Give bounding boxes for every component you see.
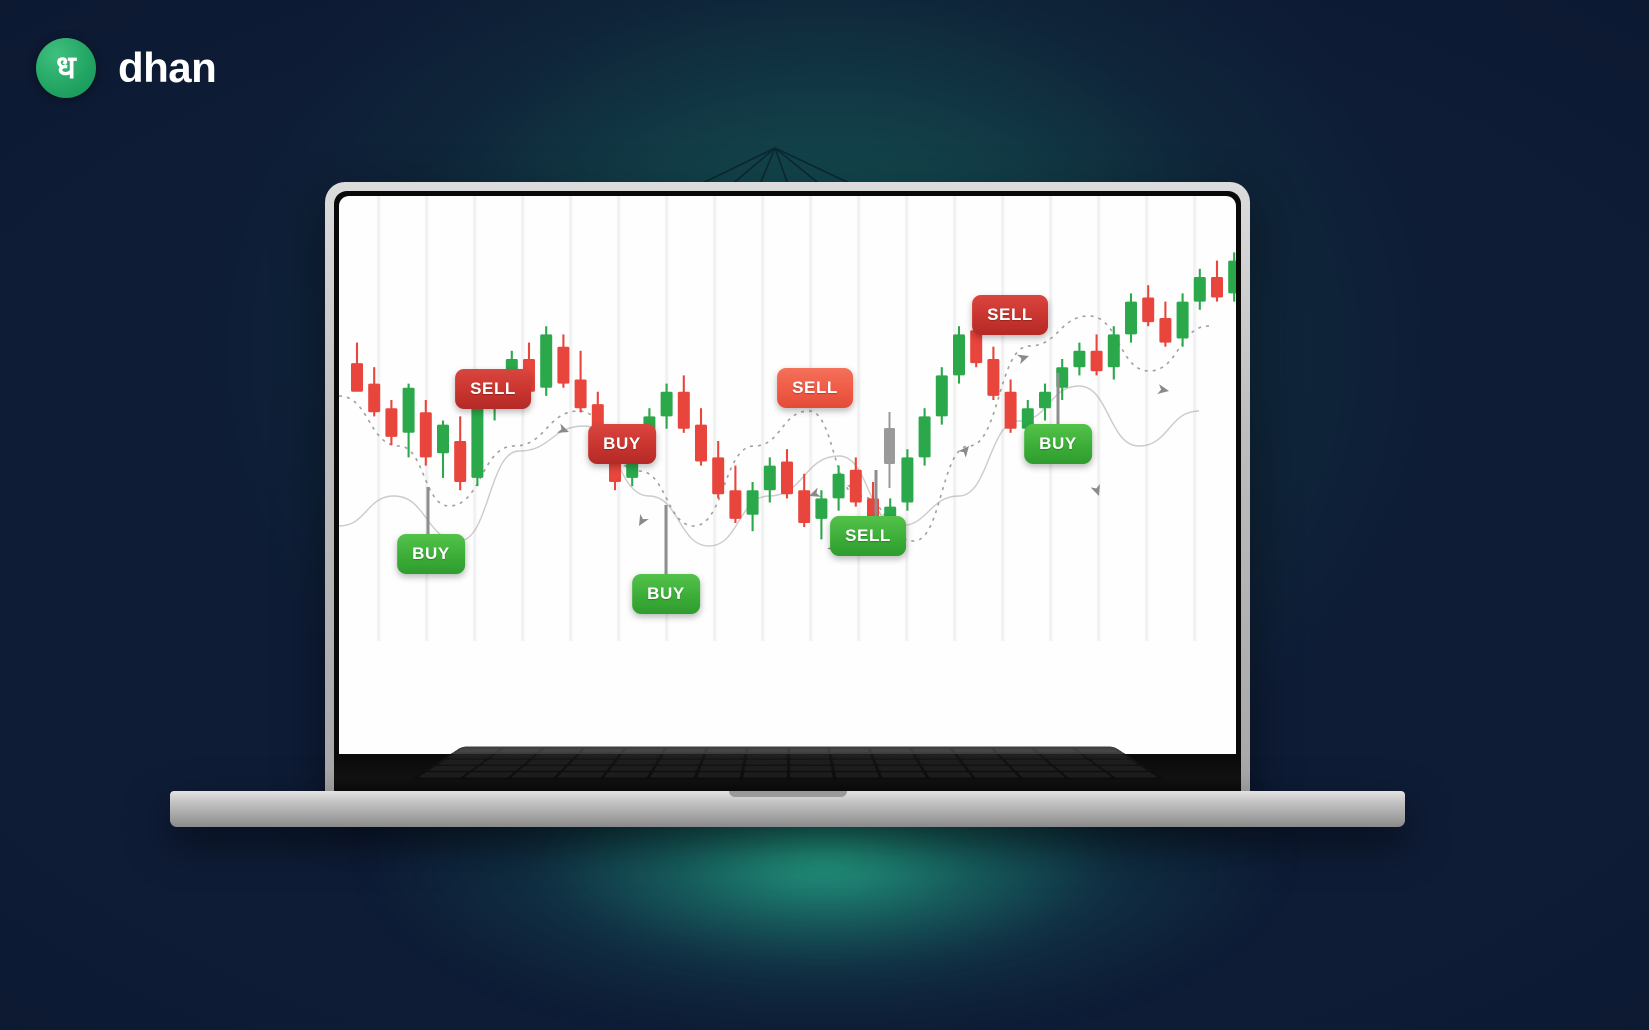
candle-body	[420, 412, 432, 457]
candle-body	[747, 490, 759, 515]
chart-gridline	[617, 196, 620, 641]
laptop-base	[170, 791, 1405, 827]
chart-gridline	[1097, 196, 1100, 641]
candle-body	[1142, 298, 1154, 323]
chart-gridline	[1193, 196, 1196, 641]
laptop-keyboard	[410, 747, 1166, 780]
keyboard-key	[706, 748, 746, 752]
candle-body	[781, 462, 793, 495]
candle-body	[1091, 351, 1103, 372]
chart-canvas	[339, 196, 1236, 756]
keyboard-key	[498, 748, 542, 752]
brand-logo: ध dhan	[36, 38, 216, 98]
keyboard-key	[623, 748, 664, 752]
keyboard-key	[875, 760, 918, 765]
signal-connector-stem	[665, 505, 668, 574]
chart-gridline	[377, 196, 380, 641]
dhan-logo-icon: ध	[36, 38, 96, 98]
trend-arrow-icon	[1157, 384, 1170, 396]
candle-body	[970, 330, 982, 363]
candle-body	[540, 334, 552, 387]
keyboard-key	[789, 760, 830, 765]
chart-gridline	[953, 196, 956, 641]
keyboard-key	[1034, 748, 1078, 752]
keyboard-key	[557, 772, 604, 777]
candle-body	[901, 457, 913, 502]
keyboard-key	[650, 772, 695, 777]
candle-body	[368, 384, 380, 413]
chart-gridline	[809, 196, 812, 641]
chart-gridline	[569, 196, 572, 641]
candle-body	[1108, 334, 1120, 367]
keyboard-key	[1040, 754, 1085, 758]
keyboard-key	[618, 754, 660, 758]
keyboard-key	[699, 766, 742, 771]
signal-badge-buy[interactable]: BUY	[397, 534, 465, 574]
candle-body	[833, 474, 845, 499]
keyboard-key	[789, 772, 832, 777]
keyboard-key	[482, 760, 528, 765]
candle-body	[953, 334, 965, 375]
candle-body	[471, 408, 483, 478]
candlestick-chart: BUYSELLBUYBUYSELLSELLSELLBUY	[339, 196, 1236, 756]
logo-glyph: ध	[56, 51, 76, 83]
trend-arrow-icon	[1017, 351, 1031, 364]
chart-gridline	[761, 196, 764, 641]
candle-body	[1005, 392, 1017, 429]
laptop-bezel: BUYSELLBUYBUYSELLSELLSELLBUY	[334, 191, 1241, 799]
keyboard-row	[438, 760, 1137, 765]
screenshot-stage: ध dhan BUYSELLBUYBUYSELLSELLSELLBUY	[0, 0, 1649, 1030]
candle-body	[1125, 302, 1137, 335]
keyboard-key	[563, 766, 609, 771]
keyboard-key	[993, 748, 1036, 752]
candle-body	[919, 416, 931, 457]
keyboard-key	[1107, 772, 1157, 777]
keyboard-key	[654, 766, 698, 771]
keyboard-row	[428, 766, 1147, 771]
keyboard-key	[789, 754, 829, 758]
candle-body	[1228, 261, 1236, 294]
candle-body	[1039, 392, 1051, 408]
keyboard-key	[1054, 766, 1102, 771]
keyboard-key	[1047, 760, 1093, 765]
trend-arrow-icon	[557, 424, 571, 437]
keyboard-key	[490, 754, 535, 758]
keyboard-key	[575, 754, 618, 758]
keyboard-key	[570, 760, 615, 765]
keyboard-key	[833, 766, 876, 771]
keyboard-key	[473, 766, 521, 771]
candle-body	[351, 363, 363, 392]
trend-arrow-icon	[958, 443, 973, 458]
keyboard-key	[998, 754, 1042, 758]
keyboard-key	[526, 760, 571, 765]
keyboard-key	[971, 772, 1018, 777]
keyboard-key	[915, 754, 957, 758]
keyboard-key	[661, 754, 703, 758]
keyboard-key	[832, 760, 874, 765]
keyboard-row	[417, 772, 1157, 777]
candle-body	[1073, 351, 1085, 367]
candle-body	[1211, 277, 1223, 298]
chart-gridline	[521, 196, 524, 641]
candle-body	[1177, 302, 1189, 339]
keyboard-key	[1082, 754, 1128, 758]
laptop-lid: BUYSELLBUYBUYSELLSELLSELLBUY	[325, 182, 1250, 799]
signal-badge-sell[interactable]: SELL	[455, 369, 531, 409]
signal-connector-stem	[427, 487, 430, 534]
keyboard-key	[966, 766, 1012, 771]
keyboard-key	[608, 766, 653, 771]
keyboard-key	[533, 754, 577, 758]
keyboard-key	[877, 766, 921, 771]
keyboard-key	[1062, 772, 1111, 777]
candle-body	[798, 490, 810, 523]
candle-body	[385, 408, 397, 437]
keyboard-key	[539, 748, 582, 752]
keyboard-key	[447, 754, 493, 758]
chart-gridline	[905, 196, 908, 641]
keyboard-key	[789, 748, 828, 752]
keyboard-key	[831, 754, 872, 758]
keyboard-key	[952, 748, 994, 752]
candle-body	[1194, 277, 1206, 302]
candle-body	[729, 490, 741, 519]
signal-connector-stem	[1057, 373, 1060, 424]
keyboard-row	[456, 748, 1119, 752]
keyboard-key	[873, 754, 915, 758]
chart-gridline	[1145, 196, 1148, 641]
keyboard-key	[911, 748, 952, 752]
candle-body	[678, 392, 690, 429]
candle-body	[661, 392, 673, 417]
signal-connector-stem	[875, 470, 878, 516]
brand-name: dhan	[118, 44, 216, 92]
keyboard-key	[743, 772, 786, 777]
candle-body	[695, 425, 707, 462]
keyboard-key	[746, 754, 786, 758]
candle-body	[403, 388, 415, 433]
laptop-base-notch	[729, 791, 847, 797]
trend-arrow-icon	[635, 514, 649, 529]
keyboard-key	[835, 772, 879, 777]
keyboard-key	[925, 772, 971, 777]
candle-body	[575, 380, 587, 409]
signal-badge-buy[interactable]: BUY	[1024, 424, 1092, 464]
keyboard-key	[510, 772, 558, 777]
keyboard-key	[880, 772, 925, 777]
keyboard-key	[664, 748, 704, 752]
candle-body	[764, 466, 776, 491]
keyboard-key	[603, 772, 649, 777]
keyboard-key	[417, 772, 467, 777]
candle-body	[1159, 318, 1171, 343]
signal-badge-sell[interactable]: SELL	[777, 368, 853, 408]
signal-badge-buy[interactable]: BUY	[588, 424, 656, 464]
keyboard-key	[428, 766, 477, 771]
signal-badge-buy[interactable]: BUY	[632, 574, 700, 614]
candle-body	[850, 470, 862, 503]
keyboard-key	[613, 760, 657, 765]
keyboard-key	[1010, 766, 1057, 771]
keyboard-key	[1074, 748, 1119, 752]
keyboard-key	[657, 760, 700, 765]
candle-body	[936, 375, 948, 416]
keyboard-key	[696, 772, 740, 777]
signal-badge-sell[interactable]: SELL	[830, 516, 906, 556]
keyboard-key	[464, 772, 513, 777]
chart-gridline	[1001, 196, 1004, 641]
candle-body	[437, 425, 449, 454]
keyboard-key	[438, 760, 485, 765]
keyboard-key	[745, 760, 786, 765]
keyboard-key	[744, 766, 786, 771]
keyboard-key	[1016, 772, 1064, 777]
keyboard-key	[830, 748, 870, 752]
keyboard-key	[747, 748, 786, 752]
keyboard-key	[789, 766, 831, 771]
candle-body	[557, 347, 569, 384]
keyboard-key	[1004, 760, 1049, 765]
keyboard-key	[581, 748, 623, 752]
keyboard-key	[961, 760, 1006, 765]
keyboard-key	[1090, 760, 1137, 765]
laptop-screen: BUYSELLBUYBUYSELLSELLSELLBUY	[339, 196, 1236, 756]
candle-body	[815, 498, 827, 519]
keyboard-key	[518, 766, 565, 771]
chart-gridline	[713, 196, 716, 641]
candle-body	[712, 457, 724, 494]
keyboard-key	[701, 760, 743, 765]
candle-body	[987, 359, 999, 396]
keyboard-key	[922, 766, 967, 771]
chart-gridline	[857, 196, 860, 641]
keyboard-key	[870, 748, 910, 752]
chart-gridline	[1049, 196, 1052, 641]
keyboard-key	[1098, 766, 1147, 771]
keyboard-key	[956, 754, 999, 758]
signal-badge-sell[interactable]: SELL	[972, 295, 1048, 335]
laptop-device: BUYSELLBUYBUYSELLSELLSELLBUY	[325, 182, 1250, 799]
keyboard-row	[447, 754, 1128, 758]
keyboard-key	[704, 754, 745, 758]
keyboard-key	[918, 760, 962, 765]
keyboard-key	[456, 748, 501, 752]
candle-body	[454, 441, 466, 482]
